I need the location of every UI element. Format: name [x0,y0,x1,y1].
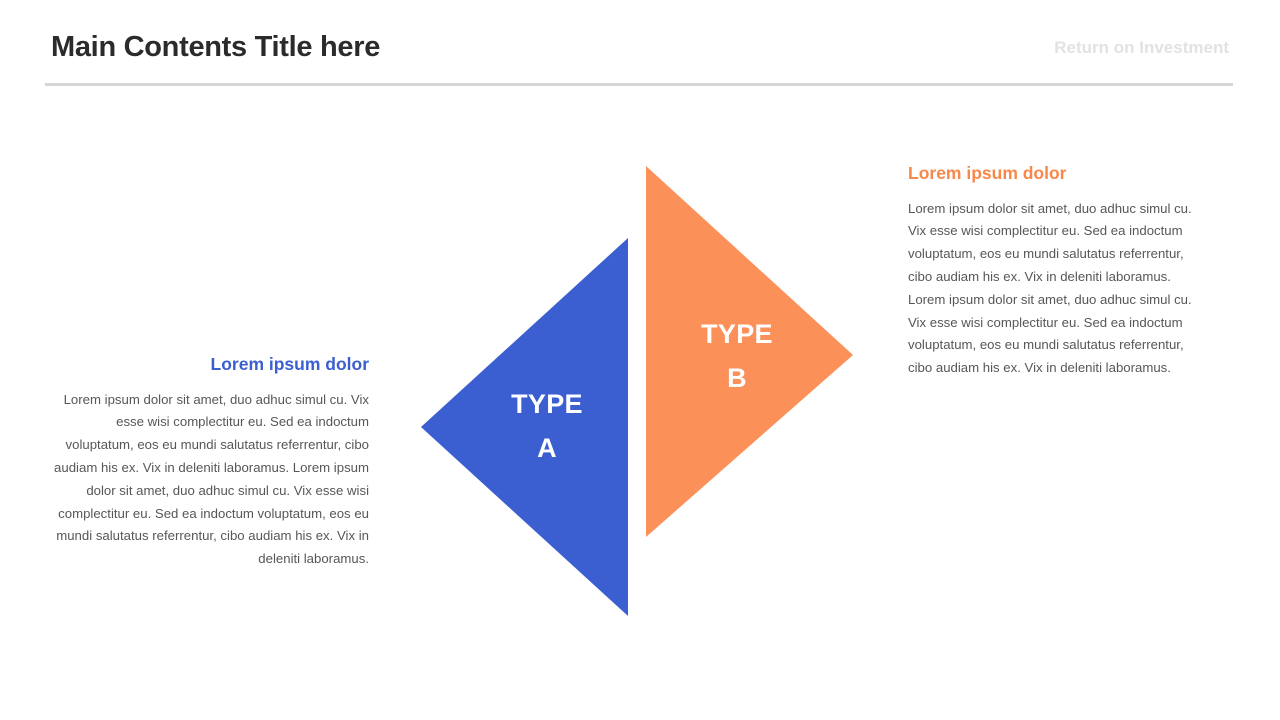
left-column-heading: Lorem ipsum dolor [49,353,369,377]
triangle-b-label: TYPE B [672,312,802,400]
triangle-a-label: TYPE A [482,382,612,470]
right-column-heading: Lorem ipsum dolor [908,162,1200,186]
right-text-column: Lorem ipsum dolor Lorem ipsum dolor sit … [908,162,1200,380]
header-divider [45,83,1233,86]
left-column-body: Lorem ipsum dolor sit amet, duo adhuc si… [49,389,369,571]
page-title: Main Contents Title here [51,31,380,64]
slide-canvas: Main Contents Title here Return on Inves… [0,0,1280,720]
left-text-column: Lorem ipsum dolor Lorem ipsum dolor sit … [49,353,369,571]
triangle-diagram: TYPE A TYPE B [400,150,870,630]
right-column-body: Lorem ipsum dolor sit amet, duo adhuc si… [908,198,1200,380]
slide-subtitle: Return on Investment [1054,38,1229,58]
